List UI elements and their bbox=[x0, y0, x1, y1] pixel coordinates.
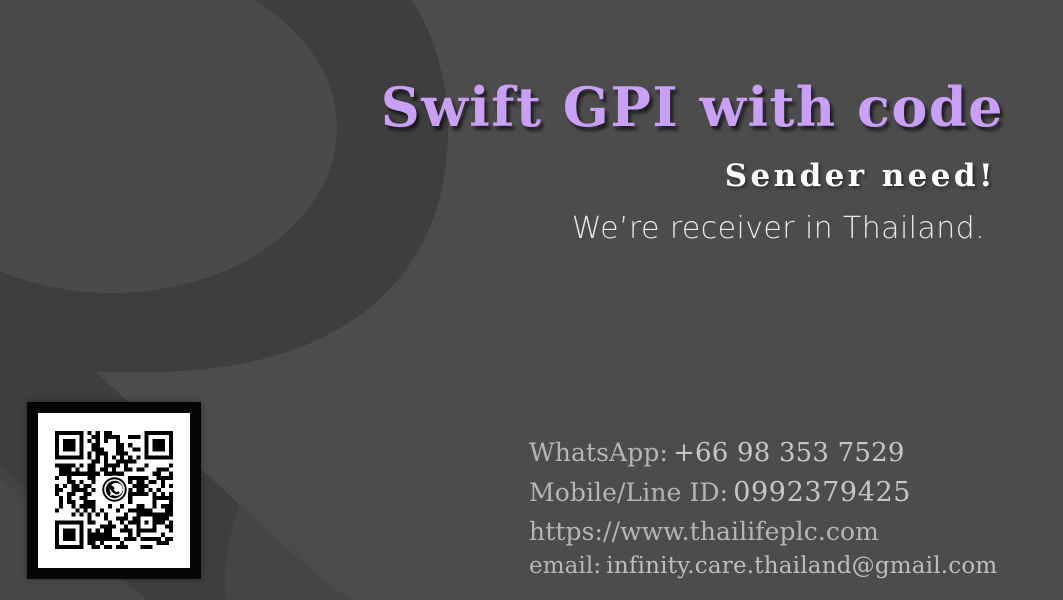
email-label: email: bbox=[529, 553, 601, 579]
contact-whatsapp: WhatsApp: +66 98 353 7529 bbox=[529, 440, 997, 466]
contact-email: email: infinity.care.thailand@gmail.com bbox=[529, 555, 997, 578]
contact-block: WhatsApp: +66 98 353 7529 Mobile/Line ID… bbox=[529, 440, 997, 578]
mobile-number[interactable]: 0992379425 bbox=[733, 477, 911, 508]
contact-website[interactable]: https://www.thailifeplc.com bbox=[529, 519, 997, 544]
page-title: Swift GPI with code bbox=[0, 79, 1004, 136]
qr-code-frame[interactable] bbox=[27, 402, 201, 579]
whatsapp-icon bbox=[100, 475, 129, 504]
tagline: We’re receiver in Thailand. bbox=[0, 211, 985, 246]
qr-code-quiet-zone bbox=[38, 413, 190, 568]
subtitle: Sender need! bbox=[0, 158, 996, 194]
email-address[interactable]: infinity.care.thailand@gmail.com bbox=[606, 553, 997, 579]
whatsapp-number[interactable]: +66 98 353 7529 bbox=[673, 438, 905, 468]
website-url[interactable]: https://www.thailifeplc.com bbox=[529, 517, 879, 546]
business-card: Swift GPI with code Sender need! We’re r… bbox=[0, 0, 1063, 600]
mobile-label: Mobile/Line ID: bbox=[529, 478, 728, 507]
contact-mobile: Mobile/Line ID: 0992379425 bbox=[529, 479, 997, 506]
whatsapp-label: WhatsApp: bbox=[529, 438, 668, 467]
